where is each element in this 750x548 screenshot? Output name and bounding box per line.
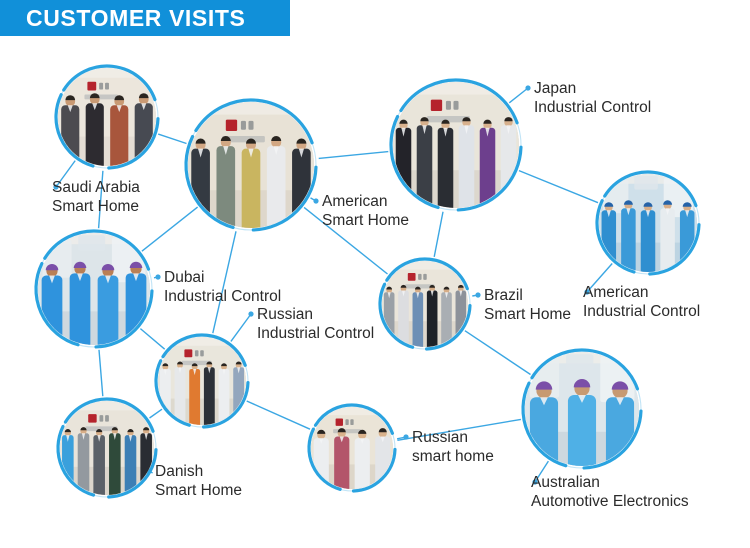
- label-brazil: BrazilSmart Home: [484, 286, 571, 324]
- node-danish[interactable]: [54, 395, 160, 501]
- label-line1-russian-industrial-control: Russian: [257, 305, 374, 324]
- ring-japan: [387, 76, 525, 214]
- label-line2-saudi-arabia: Smart Home: [52, 197, 140, 216]
- leader-dot-japan: [525, 85, 530, 90]
- ring-australian: [519, 346, 645, 472]
- ring-dubai: [32, 227, 156, 351]
- label-saudi-arabia: Saudi ArabiaSmart Home: [52, 178, 140, 216]
- ring-saudi-arabia: [52, 62, 162, 172]
- ring-danish: [54, 395, 160, 501]
- node-saudi-arabia[interactable]: [52, 62, 162, 172]
- label-danish: DanishSmart Home: [155, 462, 242, 500]
- leader-dot-dubai: [155, 274, 160, 279]
- label-australian: AustralianAutomotive Electronics: [531, 473, 689, 511]
- label-line2-danish: Smart Home: [155, 481, 242, 500]
- connector-american-smart-home-to-japan: [319, 152, 389, 159]
- leader-dot-russian-smart-home: [403, 434, 408, 439]
- label-line1-danish: Danish: [155, 462, 242, 481]
- node-japan[interactable]: [387, 76, 525, 214]
- node-dubai[interactable]: [32, 227, 156, 351]
- label-line1-brazil: Brazil: [484, 286, 571, 305]
- label-line1-american-industrial-control: American: [583, 283, 700, 302]
- label-japan: JapanIndustrial Control: [534, 79, 651, 117]
- label-line1-japan: Japan: [534, 79, 651, 98]
- node-australian[interactable]: [519, 346, 645, 472]
- node-russian-industrial-control[interactable]: [152, 331, 252, 431]
- page-title: CUSTOMER VISITS: [0, 7, 245, 30]
- leader-dot-brazil: [475, 292, 480, 297]
- header-bar: CUSTOMER VISITS: [0, 0, 290, 36]
- connector-russian-industrial-control-to-russian-smart-home: [247, 401, 310, 429]
- leader-dot-russian-industrial-control: [248, 311, 253, 316]
- connector-dubai-to-danish: [99, 350, 103, 396]
- label-line2-australian: Automotive Electronics: [531, 492, 689, 511]
- connector-japan-to-brazil: [434, 212, 443, 257]
- ring-american-industrial-control: [593, 168, 703, 278]
- label-line1-dubai: Dubai: [164, 268, 281, 287]
- label-line2-russian-industrial-control: Industrial Control: [257, 324, 374, 343]
- label-line1-saudi-arabia: Saudi Arabia: [52, 178, 140, 197]
- label-line2-dubai: Industrial Control: [164, 287, 281, 306]
- label-line2-russian-smart-home: smart home: [412, 447, 494, 466]
- ring-brazil: [376, 255, 474, 353]
- node-russian-smart-home[interactable]: [305, 401, 399, 495]
- label-russian-smart-home: Russiansmart home: [412, 428, 494, 466]
- label-line2-brazil: Smart Home: [484, 305, 571, 324]
- customer-visits-infographic: CUSTOMER VISITS Saudi ArabiaSmart HomeAm…: [0, 0, 750, 548]
- label-dubai: DubaiIndustrial Control: [164, 268, 281, 306]
- node-american-smart-home[interactable]: [182, 96, 320, 234]
- label-american-industrial-control: AmericanIndustrial Control: [583, 283, 700, 321]
- label-russian-industrial-control: RussianIndustrial Control: [257, 305, 374, 343]
- ring-american-smart-home: [182, 96, 320, 234]
- connector-japan-to-american-industrial-control: [519, 171, 598, 203]
- node-brazil[interactable]: [376, 255, 474, 353]
- node-american-industrial-control[interactable]: [593, 168, 703, 278]
- ring-russian-industrial-control: [152, 331, 252, 431]
- label-line1-russian-smart-home: Russian: [412, 428, 494, 447]
- label-line2-japan: Industrial Control: [534, 98, 651, 117]
- label-line2-american-industrial-control: Industrial Control: [583, 302, 700, 321]
- ring-russian-smart-home: [305, 401, 399, 495]
- label-line1-australian: Australian: [531, 473, 689, 492]
